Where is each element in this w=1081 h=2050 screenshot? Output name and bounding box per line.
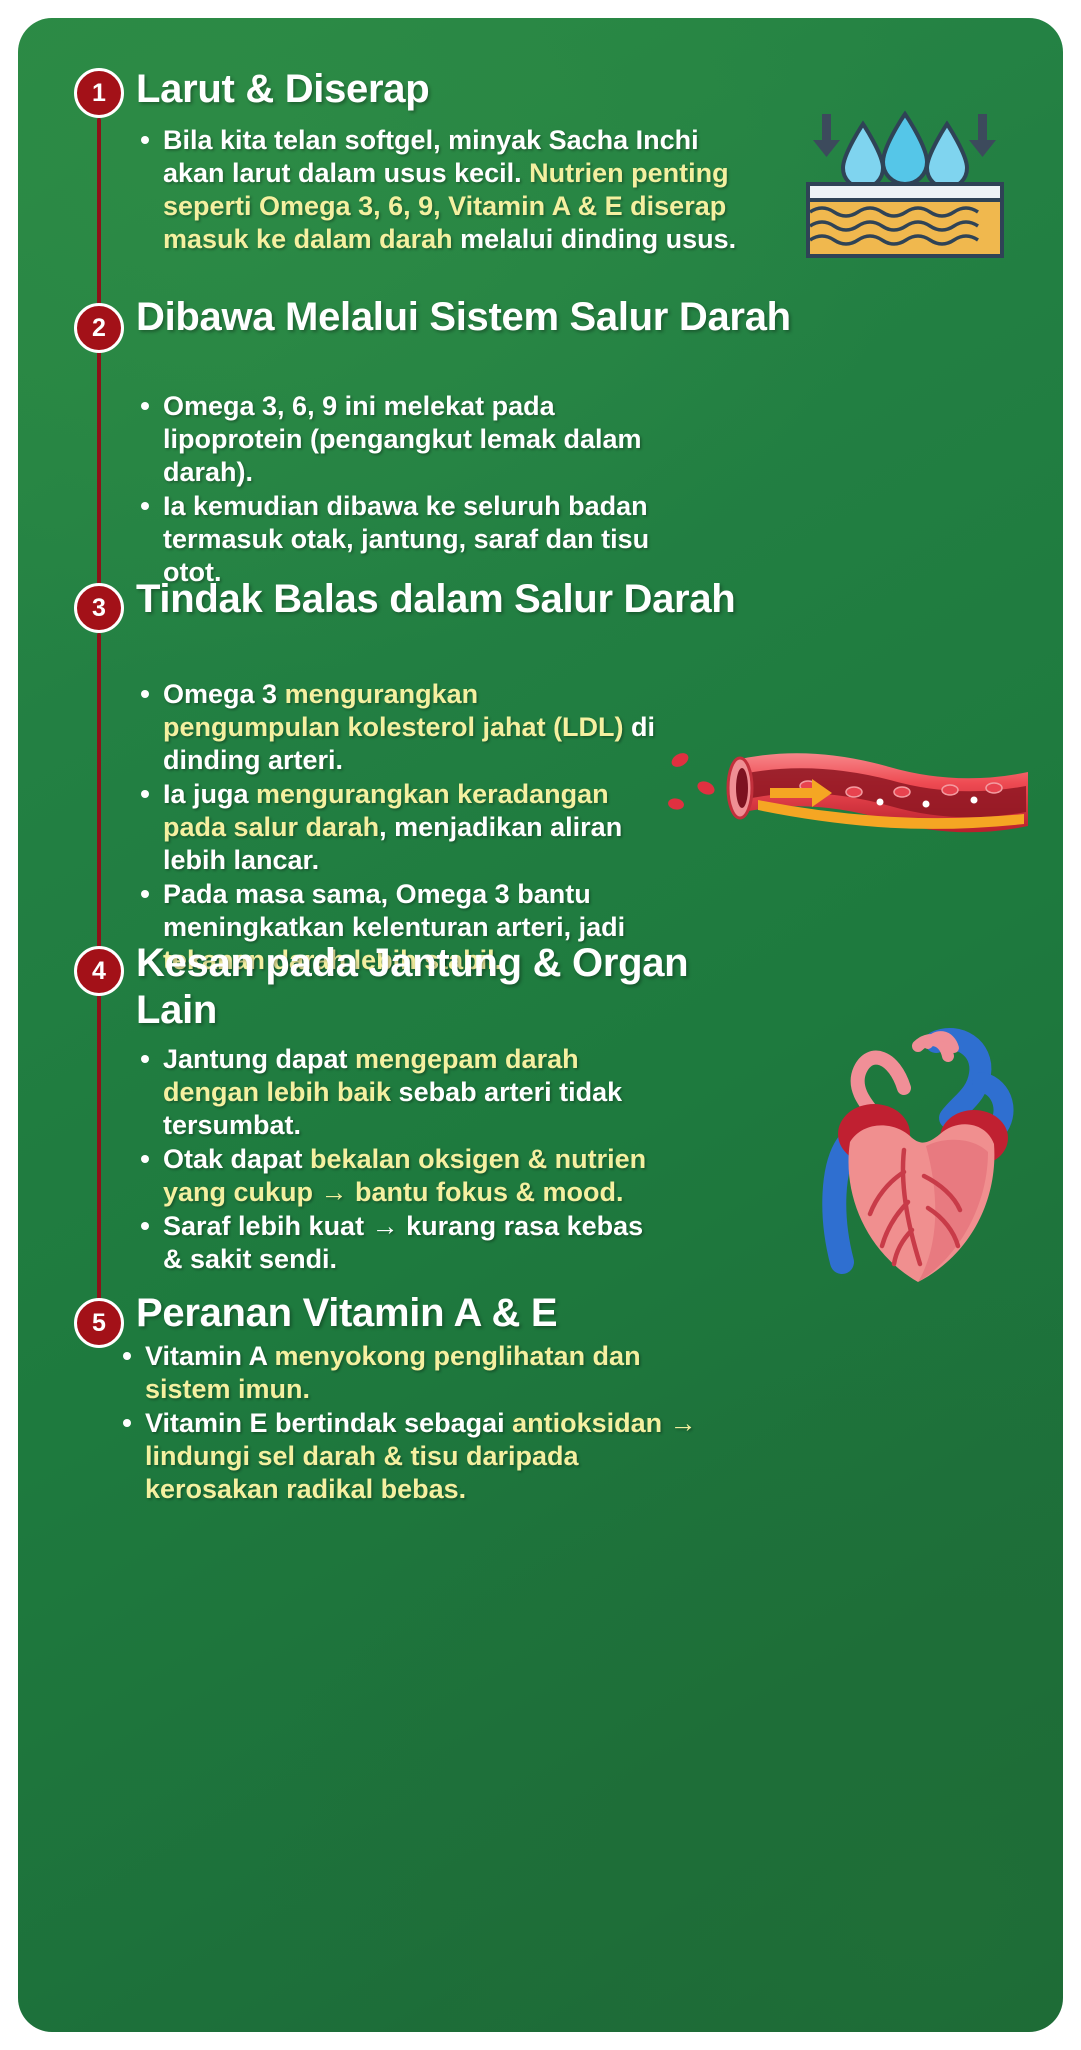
step-badge-1: 1 (74, 68, 124, 118)
section-3-heading: Tindak Balas dalam Salur Darah (136, 576, 876, 623)
intestine-absorption-icon (800, 106, 1010, 261)
plain-text: Vitamin A (145, 1341, 275, 1371)
list-item: Otak dapat bekalan oksigen & nutrien yan… (136, 1143, 666, 1209)
plain-text: Jantung dapat (163, 1044, 355, 1074)
section-1-bullets: Bila kita telan softgel, minyak Sacha In… (136, 124, 756, 257)
section-4-bullets: Jantung dapat mengepam darah dengan lebi… (136, 1043, 666, 1277)
step-badge-5: 5 (74, 1298, 124, 1348)
plain-text: Ia kemudian dibawa ke seluruh badan term… (163, 491, 649, 587)
section-2-heading: Dibawa Melalui Sistem Salur Darah (136, 294, 836, 341)
plain-text: Otak dapat (163, 1144, 310, 1174)
bullet-text: Vitamin A menyokong penglihatan dan sist… (145, 1341, 641, 1404)
section-3-bullets: Omega 3 mengurangkan pengumpulan koleste… (136, 678, 656, 978)
plain-text: Pada masa sama, Omega 3 bantu meningkatk… (163, 879, 625, 942)
list-item: Ia juga mengurangkan keradangan pada sal… (136, 778, 656, 877)
list-item: Saraf lebih kuat → kurang rasa kebas & s… (136, 1210, 666, 1276)
bullet-dot (123, 1352, 131, 1360)
bullet-dot (141, 890, 149, 898)
step-badge-2: 2 (74, 303, 124, 353)
artery-bloodflow-icon (658, 730, 1033, 860)
plain-text: melalui dinding usus. (453, 224, 737, 254)
bullet-text: Jantung dapat mengepam darah dengan lebi… (163, 1044, 622, 1140)
connector-line-3 (97, 633, 101, 963)
plain-text: Vitamin E bertindak sebagai (145, 1408, 512, 1438)
section-4-heading: Kesan pada Jantung & Organ Lain (136, 940, 776, 1034)
section-2-bullets: Omega 3, 6, 9 ini melekat pada lipoprote… (136, 390, 696, 590)
bullet-dot (141, 690, 149, 698)
section-1-heading: Larut & Diserap (136, 66, 736, 113)
plain-text: Saraf lebih kuat → kurang rasa kebas & s… (163, 1211, 643, 1274)
list-item: Ia kemudian dibawa ke seluruh badan term… (136, 490, 696, 589)
bullet-dot (141, 1222, 149, 1230)
list-item: Omega 3, 6, 9 ini melekat pada lipoprote… (136, 390, 696, 489)
step-badge-4: 4 (74, 946, 124, 996)
connector-line-4 (97, 993, 101, 1323)
list-item: Vitamin E bertindak sebagai antioksidan … (118, 1407, 698, 1506)
bullet-dot (141, 1055, 149, 1063)
bullet-text: Otak dapat bekalan oksigen & nutrien yan… (163, 1144, 646, 1207)
section-5-heading: Peranan Vitamin A & E (136, 1290, 836, 1337)
list-item: Jantung dapat mengepam darah dengan lebi… (136, 1043, 666, 1142)
bullet-text: Omega 3 mengurangkan pengumpulan koleste… (163, 679, 655, 775)
plain-text: Omega 3, 6, 9 ini melekat pada lipoprote… (163, 391, 642, 487)
bullet-text: Omega 3, 6, 9 ini melekat pada lipoprote… (163, 391, 642, 487)
list-item: Vitamin A menyokong penglihatan dan sist… (118, 1340, 698, 1406)
heart-icon (808, 1026, 1038, 1298)
bullet-dot (141, 790, 149, 798)
section-5-bullets: Vitamin A menyokong penglihatan dan sist… (118, 1340, 698, 1507)
infographic-card: 1 Larut & Diserap (18, 18, 1063, 2032)
list-item: Bila kita telan softgel, minyak Sacha In… (136, 124, 756, 256)
step-badge-3: 3 (74, 583, 124, 633)
plain-text: Ia juga (163, 779, 256, 809)
bullet-dot (141, 402, 149, 410)
bullet-dot (141, 502, 149, 510)
bullet-text: Ia kemudian dibawa ke seluruh badan term… (163, 491, 649, 587)
bullet-text: Ia juga mengurangkan keradangan pada sal… (163, 779, 622, 875)
connector-line-2 (97, 358, 101, 608)
list-item: Omega 3 mengurangkan pengumpulan koleste… (136, 678, 656, 777)
plain-text: Omega 3 (163, 679, 285, 709)
bullet-dot (123, 1419, 131, 1427)
bullet-text: Saraf lebih kuat → kurang rasa kebas & s… (163, 1211, 643, 1274)
bullet-text: Vitamin E bertindak sebagai antioksidan … (145, 1408, 697, 1504)
bullet-text: Bila kita telan softgel, minyak Sacha In… (163, 125, 736, 254)
bullet-dot (141, 1155, 149, 1163)
bullet-dot (141, 136, 149, 144)
